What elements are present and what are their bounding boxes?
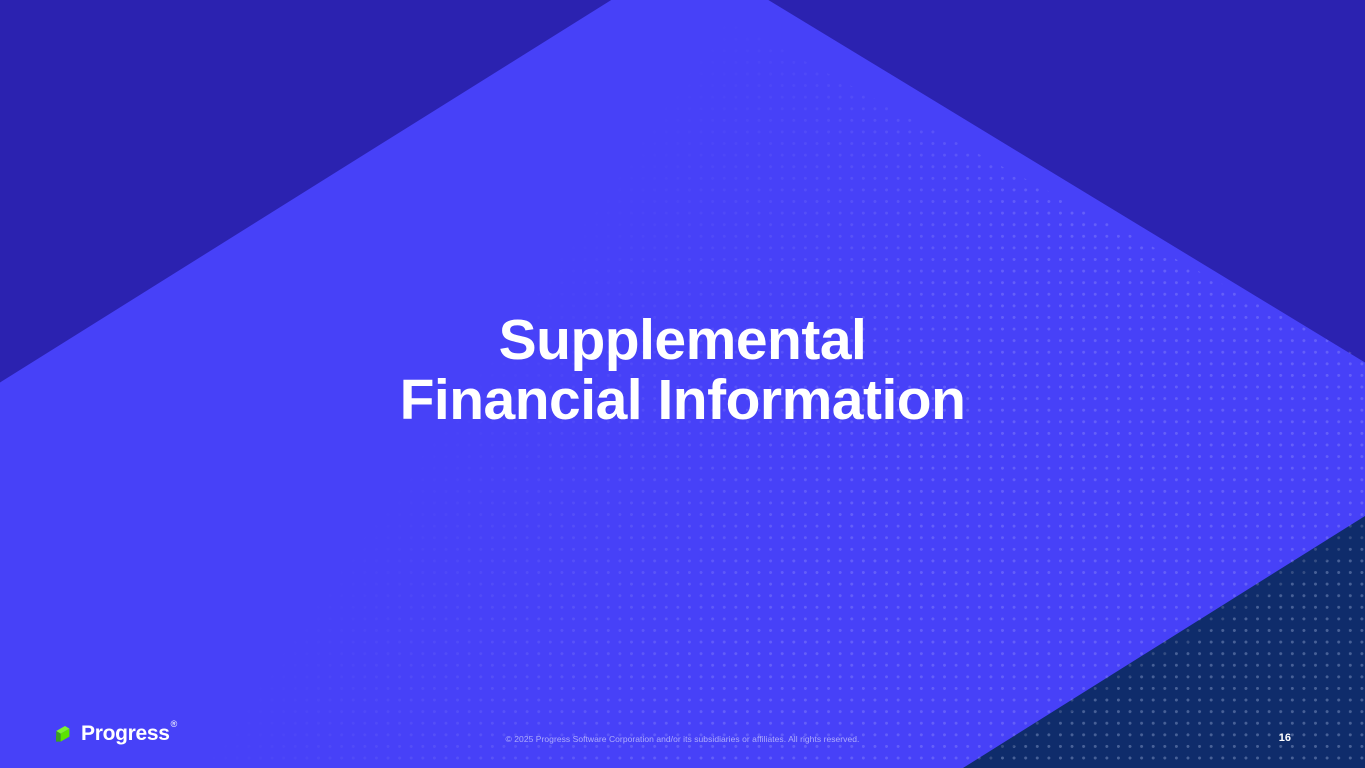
presentation-slide: Supplemental Financial Information Progr… [0,0,1365,768]
page-number: 16 [1279,732,1291,744]
slide-title: Supplemental Financial Information [0,310,1365,430]
trademark-symbol: ® [171,719,177,729]
copyright-notice: © 2025 Progress Software Corporation and… [0,734,1365,744]
